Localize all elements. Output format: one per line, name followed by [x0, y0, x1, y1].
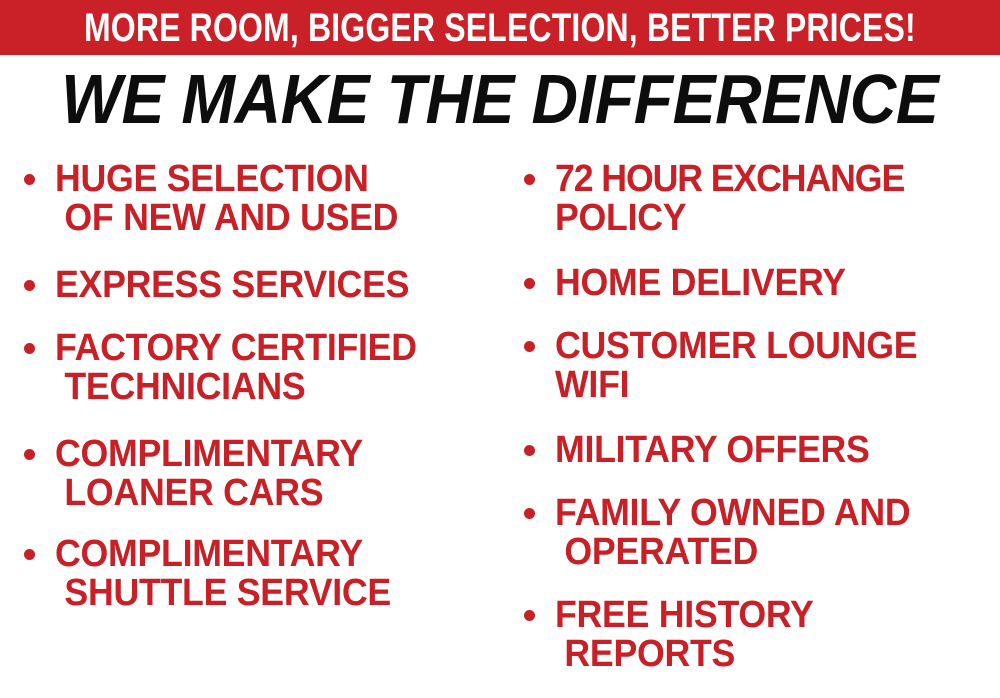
list-item-line-1: FAMILY OWNED AND [555, 494, 968, 533]
benefits-column-right: 72 HOUR EXCHANGE POLICY HOME DELIVERY CU… [514, 160, 994, 698]
list-item-line-2: REPORTS [555, 635, 968, 674]
list-item-text: CUSTOMER LOUNGE WIFI [555, 327, 994, 405]
list-item-text: COMPLIMENTARY SHUTTLE SERVICE [55, 535, 494, 613]
list-item-line-2: OF NEW AND USED [55, 199, 468, 238]
list-item: CUSTOMER LOUNGE WIFI [514, 327, 994, 405]
list-item-line-2: WIFI [555, 366, 968, 405]
list-item: HUGE SELECTION OF NEW AND USED [14, 160, 494, 238]
list-item-line-1: EXPRESS SERVICES [55, 266, 468, 305]
list-item-text: FREE HISTORY REPORTS [555, 596, 994, 674]
list-item-line-2: POLICY [555, 199, 968, 238]
list-item: FAMILY OWNED AND OPERATED [514, 494, 994, 572]
bullet-dot-icon [24, 280, 35, 291]
bullet-dot-icon [524, 508, 535, 519]
list-item-line-2: LOANER CARS [55, 474, 468, 513]
bullet-dot-icon [524, 341, 535, 352]
list-item-text: COMPLIMENTARY LOANER CARS [55, 435, 494, 513]
list-item: FACTORY CERTIFIED TECHNICIANS [14, 329, 494, 407]
list-item: EXPRESS SERVICES [14, 266, 494, 305]
bullet-dot-icon [524, 278, 535, 289]
list-item-line-1: COMPLIMENTARY [55, 535, 468, 574]
bullet-dot-icon [524, 610, 535, 621]
list-item-line-1: HOME DELIVERY [555, 264, 968, 303]
top-banner: MORE ROOM, BIGGER SELECTION, BETTER PRIC… [0, 0, 1000, 55]
list-item: FREE HISTORY REPORTS [514, 596, 994, 674]
list-item-line-2: TECHNICIANS [55, 368, 468, 407]
list-item-text: 72 HOUR EXCHANGE POLICY [555, 160, 994, 238]
bullet-dot-icon [524, 174, 535, 185]
list-item-line-1: MILITARY OFFERS [555, 431, 968, 470]
list-item: 72 HOUR EXCHANGE POLICY [514, 160, 994, 238]
promo-poster: MORE ROOM, BIGGER SELECTION, BETTER PRIC… [0, 0, 1000, 694]
list-item-text: FAMILY OWNED AND OPERATED [555, 494, 994, 572]
list-item-line-1: FREE HISTORY [555, 596, 968, 635]
main-headline: WE MAKE THE DIFFERENCE [0, 63, 1000, 135]
bullet-dot-icon [24, 549, 35, 560]
list-item-line-1: CUSTOMER LOUNGE [555, 327, 968, 366]
list-item-line-1: FACTORY CERTIFIED [55, 329, 468, 368]
list-item: COMPLIMENTARY LOANER CARS [14, 435, 494, 513]
list-item: COMPLIMENTARY SHUTTLE SERVICE [14, 535, 494, 613]
list-item-text: HUGE SELECTION OF NEW AND USED [55, 160, 494, 238]
list-item-text: FACTORY CERTIFIED TECHNICIANS [55, 329, 494, 407]
list-item-line-1: COMPLIMENTARY [55, 435, 468, 474]
main-headline-text: WE MAKE THE DIFFERENCE [61, 63, 938, 135]
list-item-line-1: 72 HOUR EXCHANGE [555, 160, 968, 199]
list-item-text: MILITARY OFFERS [555, 431, 994, 470]
benefits-column-left: HUGE SELECTION OF NEW AND USED EXPRESS S… [14, 160, 494, 637]
list-item: MILITARY OFFERS [514, 431, 994, 470]
list-item-text: EXPRESS SERVICES [55, 266, 494, 305]
bullet-dot-icon [24, 174, 35, 185]
bullet-dot-icon [524, 445, 535, 456]
list-item: HOME DELIVERY [514, 264, 994, 303]
banner-headline-text: MORE ROOM, BIGGER SELECTION, BETTER PRIC… [84, 8, 916, 48]
bullet-dot-icon [24, 449, 35, 460]
benefits-columns: HUGE SELECTION OF NEW AND USED EXPRESS S… [0, 160, 1000, 694]
list-item-line-1: HUGE SELECTION [55, 160, 468, 199]
list-item-line-2: SHUTTLE SERVICE [55, 574, 468, 613]
list-item-text: HOME DELIVERY [555, 264, 994, 303]
list-item-line-2: OPERATED [555, 533, 968, 572]
bullet-dot-icon [24, 343, 35, 354]
